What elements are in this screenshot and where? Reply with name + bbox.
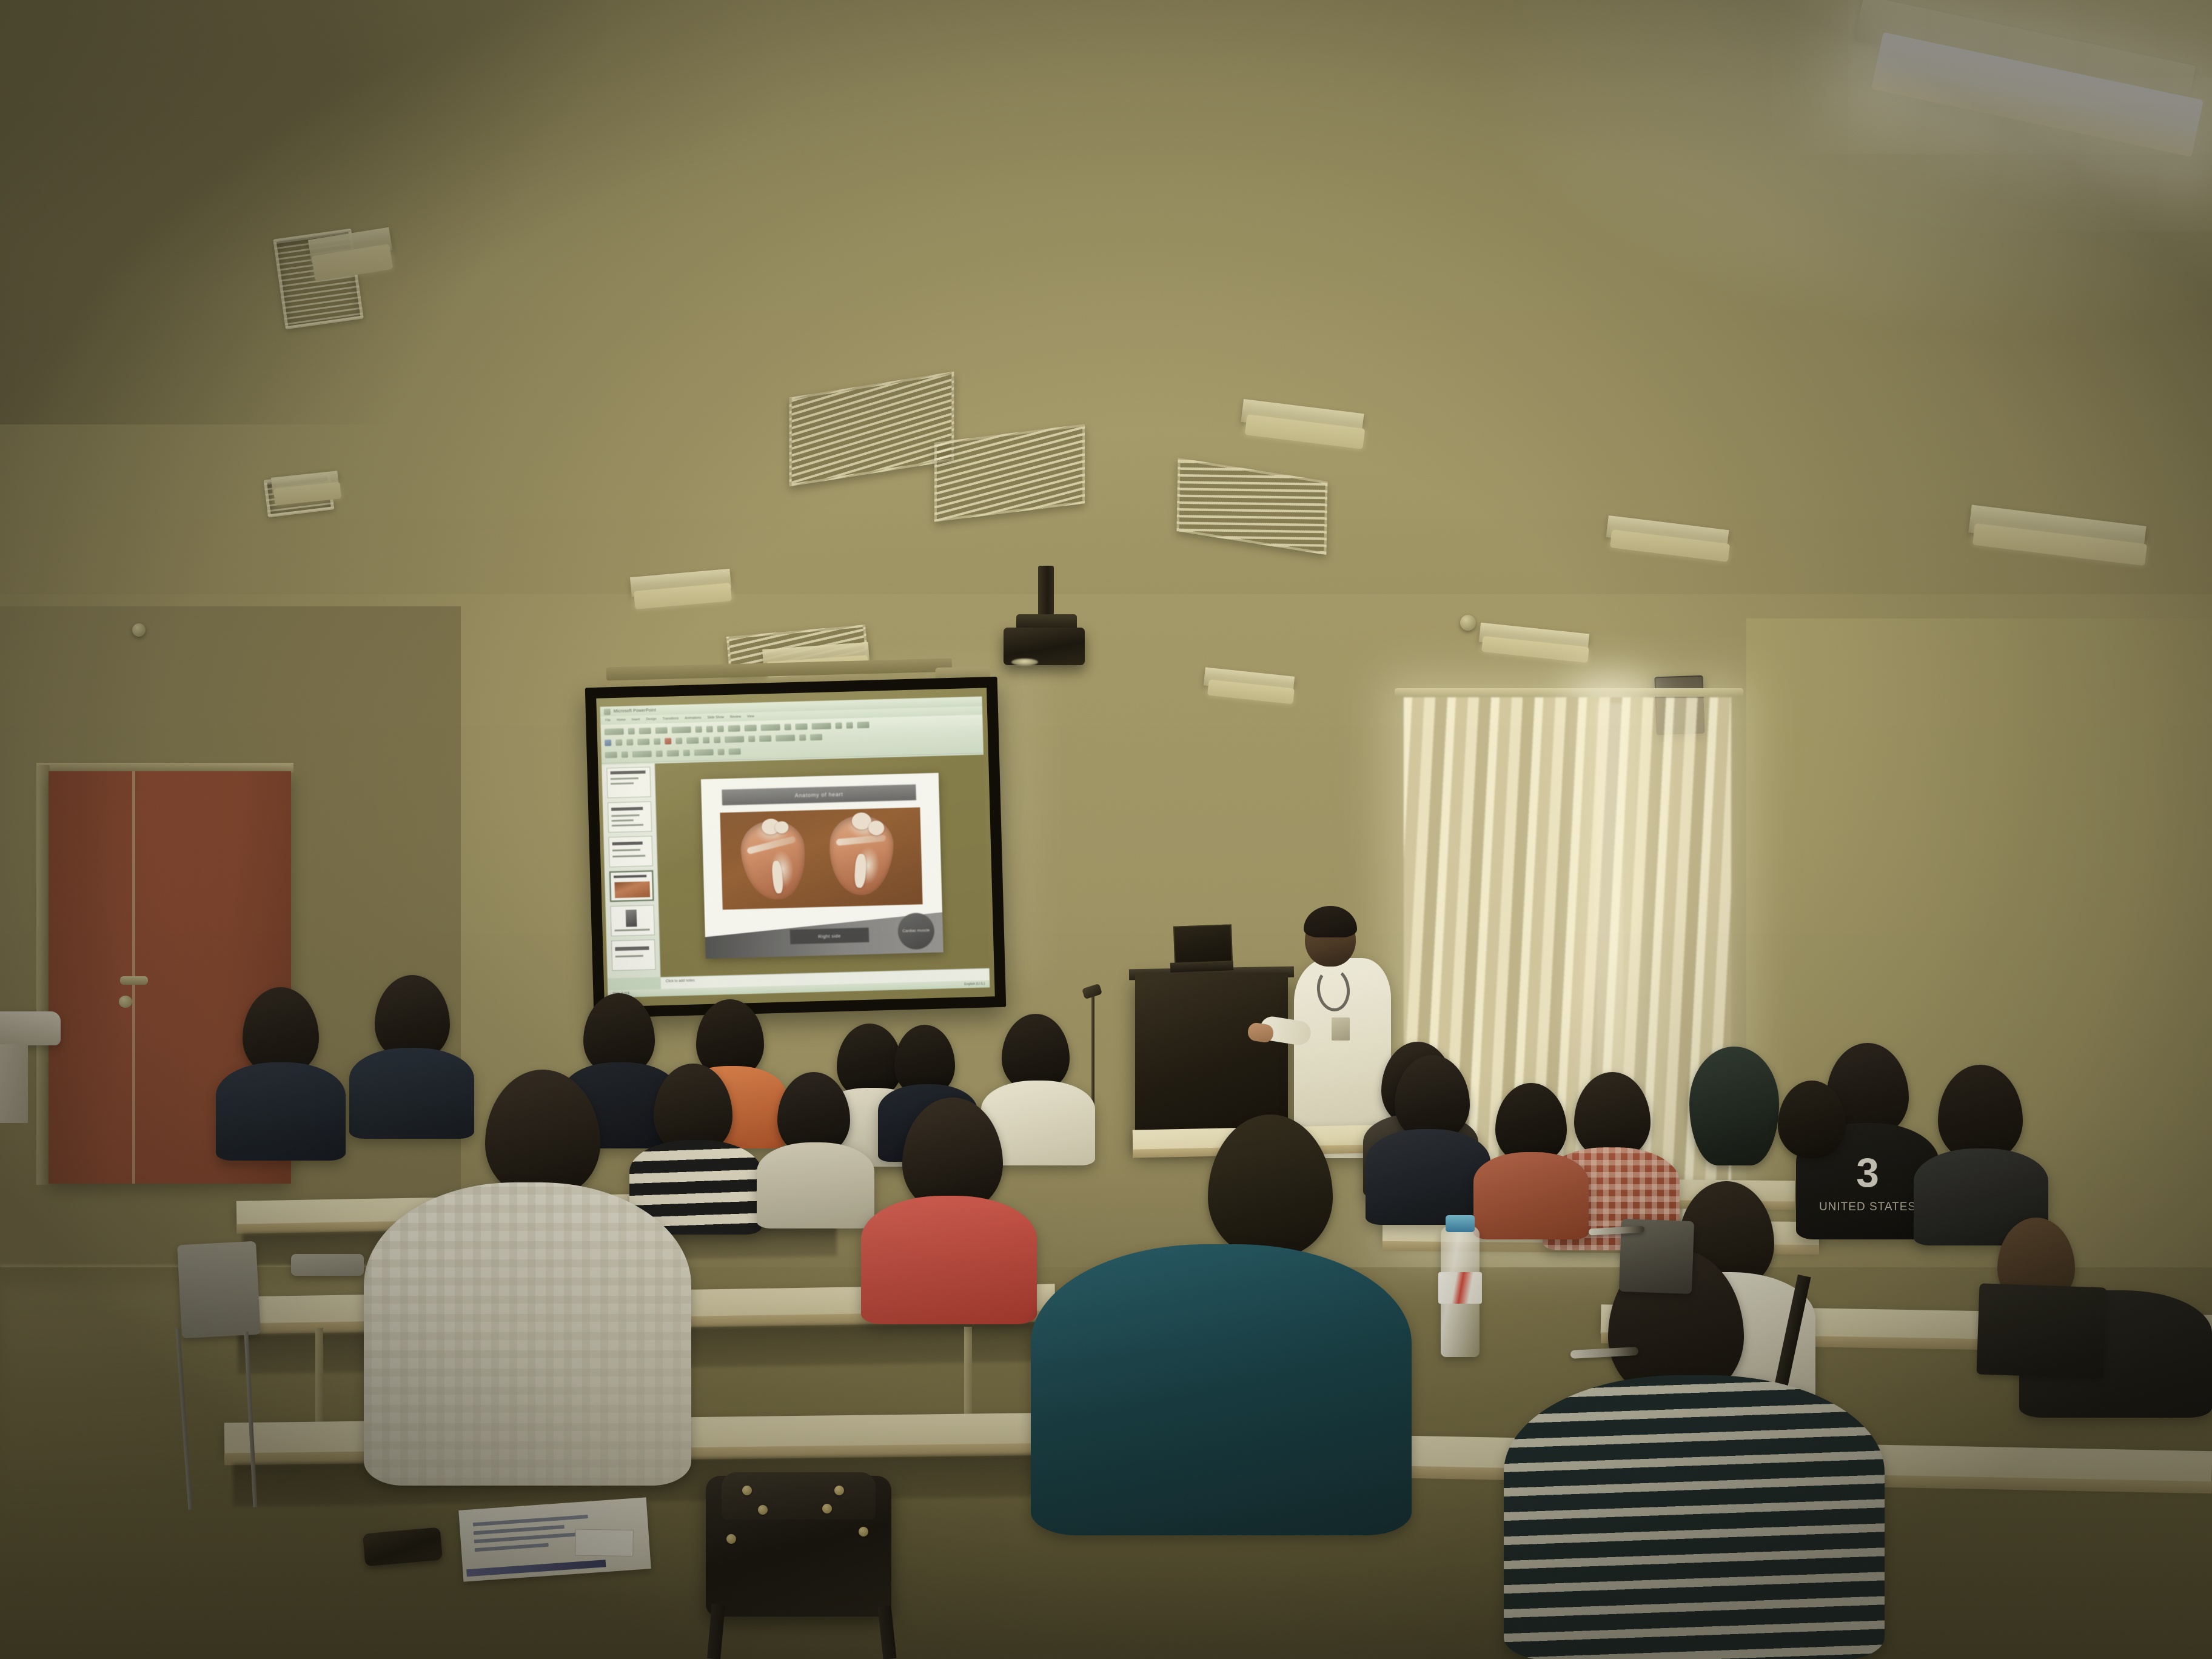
select-icon[interactable]: [857, 722, 869, 729]
slide-thumbnail[interactable]: [608, 836, 652, 867]
door-handle-icon[interactable]: [120, 976, 148, 985]
papers-booklet[interactable]: [458, 1497, 651, 1581]
hyperlink-icon[interactable]: [748, 736, 755, 742]
sprinkler-head: [1460, 615, 1476, 631]
help-icon[interactable]: [729, 748, 741, 755]
slide-thumbnail-selected[interactable]: [609, 870, 653, 902]
stud-icon: [834, 1486, 844, 1495]
person-torso: [349, 1048, 474, 1139]
zoom-icon[interactable]: [656, 750, 663, 757]
slide-size-icon[interactable]: [605, 751, 617, 759]
shape-fill-icon[interactable]: [776, 734, 795, 742]
chair-seat[interactable]: [291, 1254, 364, 1276]
tshirt-number: 3: [1856, 1152, 1879, 1193]
paper-slip: [575, 1529, 634, 1557]
heart-specimen-left: [739, 818, 809, 903]
bottle-label: [1438, 1272, 1482, 1304]
person-torso: [1366, 1129, 1490, 1225]
bold-icon[interactable]: [695, 726, 702, 732]
slide-thumbnail-panel[interactable]: [602, 763, 660, 978]
powerpoint-window: Microsoft PowerPoint File Home Insert De…: [600, 697, 990, 998]
paste-icon[interactable]: [605, 728, 624, 736]
lecture-hall-photo: Microsoft PowerPoint File Home Insert De…: [0, 0, 2212, 1659]
stud-icon: [822, 1504, 832, 1513]
clipart-icon[interactable]: [626, 739, 633, 745]
align-group-icon[interactable]: [760, 724, 780, 731]
stud-icon: [726, 1534, 736, 1544]
projector-lens: [1011, 659, 1038, 666]
fit-window-icon[interactable]: [667, 749, 679, 757]
italic-icon[interactable]: [706, 726, 713, 732]
person-headscarf: [1689, 1047, 1779, 1165]
heart-specimen-right: [827, 814, 896, 897]
bullets-icon[interactable]: [728, 725, 740, 732]
menu-item-design[interactable]: Design: [646, 717, 656, 721]
header-footer-icon[interactable]: [686, 737, 699, 744]
menu-item-home[interactable]: Home: [617, 719, 626, 722]
quickstyles-icon[interactable]: [811, 722, 831, 729]
curtain-rod: [1395, 688, 1743, 697]
person-torso: [757, 1142, 874, 1228]
new-slide-icon[interactable]: [639, 727, 651, 734]
person-torso-red-tshirt: [861, 1196, 1037, 1324]
find-icon[interactable]: [835, 722, 842, 729]
ppt-app-title: Microsoft PowerPoint: [614, 708, 656, 714]
slide-title: Anatomy of heart: [722, 785, 916, 806]
office-logo-icon: [604, 708, 611, 715]
stud-icon: [859, 1527, 868, 1537]
stud-icon: [742, 1486, 752, 1495]
theme-icon[interactable]: [605, 739, 611, 746]
door-lock-icon[interactable]: [119, 996, 132, 1008]
bottle-cap: [1446, 1215, 1475, 1232]
door-frame-left: [36, 765, 50, 1185]
chair-back[interactable]: [177, 1241, 261, 1339]
language-indicator: English (U.S.): [964, 982, 985, 987]
menu-item-transitions[interactable]: Transitions: [663, 717, 679, 721]
person-torso: [1473, 1152, 1589, 1239]
slide-editing-stage: Anatomy of heart: [655, 755, 989, 977]
shapes-icon[interactable]: [784, 723, 791, 730]
arrange-icon[interactable]: [795, 723, 807, 730]
backpack[interactable]: [1976, 1283, 2106, 1378]
slide-thumbnail[interactable]: [610, 905, 654, 936]
projection-screen: Microsoft PowerPoint File Home Insert De…: [585, 677, 1006, 1018]
slide-thumbnail[interactable]: [607, 801, 651, 833]
menu-item-insert[interactable]: Insert: [632, 718, 640, 722]
chart-icon[interactable]: [654, 738, 660, 745]
presenter-id-badge: [1332, 1017, 1350, 1041]
tshirt-text: UNITED STATES: [1819, 1201, 1916, 1214]
menu-item-slideshow[interactable]: Slide Show: [707, 716, 724, 720]
variants-icon[interactable]: [632, 750, 652, 757]
current-slide: Anatomy of heart: [701, 773, 943, 959]
slide-thumbnail[interactable]: [611, 939, 655, 971]
screen-surface: Microsoft PowerPoint File Home Insert De…: [596, 688, 995, 1007]
font-box-icon[interactable]: [672, 726, 691, 734]
effects-icon[interactable]: [810, 734, 822, 741]
action-icon[interactable]: [759, 735, 771, 742]
macros-icon[interactable]: [718, 748, 725, 755]
slide-caption: Right side: [790, 928, 870, 945]
shape-outline-icon[interactable]: [799, 734, 806, 740]
ceiling-shadow: [0, 0, 606, 424]
window-group-icon[interactable]: [694, 749, 714, 756]
smartart-icon[interactable]: [665, 737, 671, 744]
wall-sink: [0, 1011, 61, 1045]
grayscale-icon[interactable]: [683, 749, 690, 756]
black-handbag[interactable]: [706, 1476, 891, 1617]
person-torso-striped-shirt: [1504, 1375, 1885, 1659]
sprinkler-head: [132, 623, 146, 637]
laptop-icon[interactable]: [1173, 924, 1233, 964]
replace-icon[interactable]: [846, 722, 853, 728]
textbox-icon[interactable]: [675, 737, 682, 744]
sink-pedestal: [0, 1044, 28, 1123]
cut-icon[interactable]: [628, 728, 635, 734]
person-torso-white-shirt: [364, 1182, 691, 1486]
menu-item-animations[interactable]: Animations: [685, 716, 701, 720]
menu-item-review[interactable]: Review: [730, 715, 741, 719]
menu-item-view[interactable]: View: [747, 715, 754, 719]
stud-icon: [758, 1505, 768, 1515]
picture-icon[interactable]: [615, 739, 622, 746]
microphone-stand: [1091, 994, 1094, 1110]
background-icon[interactable]: [622, 751, 628, 757]
symbol-icon[interactable]: [714, 736, 720, 743]
person-torso: [216, 1062, 346, 1161]
slide-thumbnail[interactable]: [606, 766, 651, 798]
slide-heart-photo: [720, 807, 922, 910]
numbering-icon[interactable]: [744, 725, 756, 732]
layout-icon[interactable]: [655, 727, 668, 734]
projector-mount: [1038, 566, 1054, 622]
menu-item-file[interactable]: File: [605, 719, 611, 722]
table-icon[interactable]: [637, 738, 649, 745]
person-torso-teal-hoodie: [1031, 1244, 1412, 1535]
underline-icon[interactable]: [717, 725, 724, 732]
handbag-flap: [722, 1472, 876, 1520]
wordart-icon[interactable]: [703, 737, 709, 743]
media-group-icon[interactable]: [725, 736, 744, 743]
mobile-phone[interactable]: [363, 1527, 443, 1567]
